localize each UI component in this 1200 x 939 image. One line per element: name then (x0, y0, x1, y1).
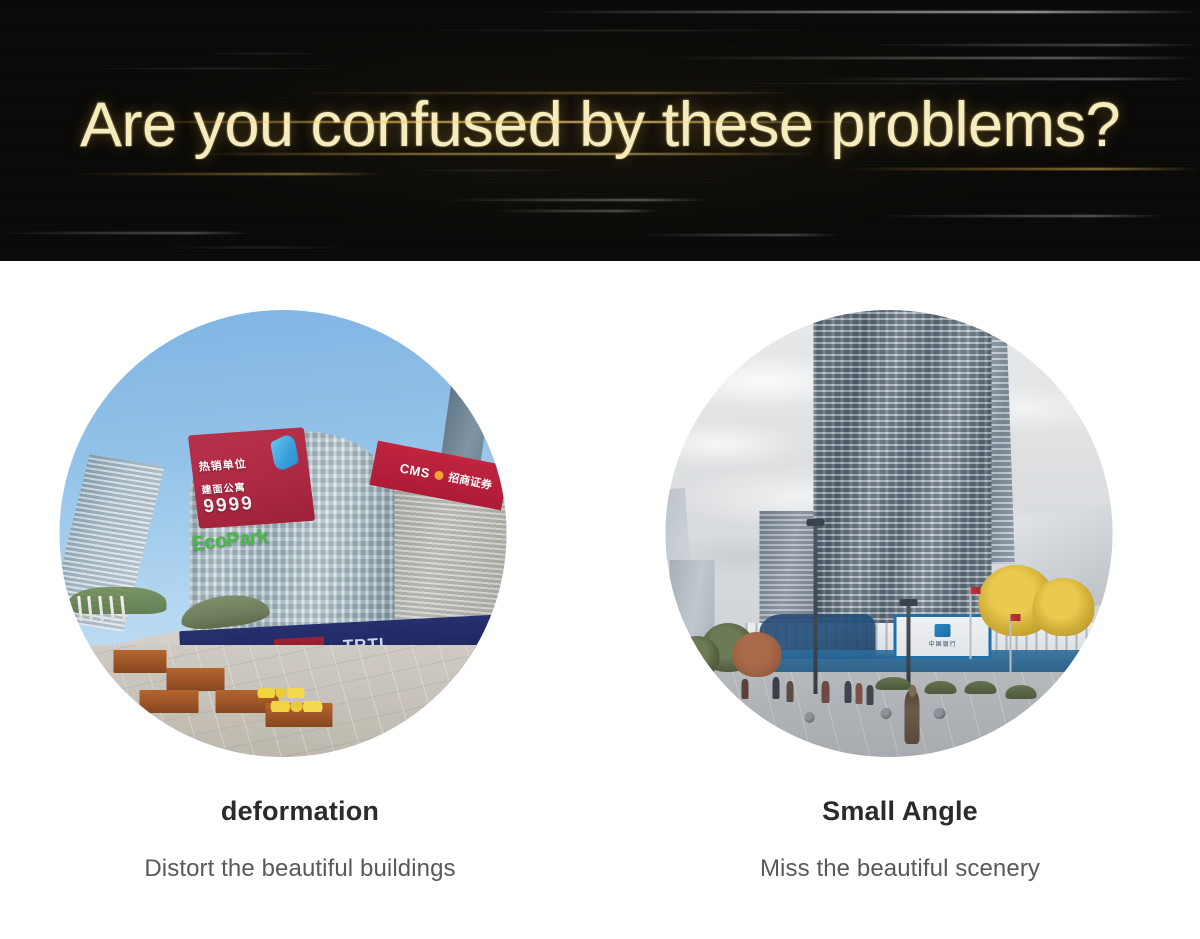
foreground-pedestrian (905, 690, 920, 744)
cms-sign-chinese: 招商证券 (447, 469, 493, 493)
street-lamp (907, 605, 911, 685)
title-gold-streak-lower (192, 153, 816, 155)
red-banner-number: 9999 (202, 493, 255, 518)
pedestrian (855, 683, 862, 704)
bank-logo-icon (935, 624, 951, 637)
card-small-angle[interactable]: 中国银行 (600, 261, 1200, 939)
pedestrian (867, 685, 874, 705)
pedestrian (844, 681, 851, 703)
slide-page: Are you confused by these problems? 热销单位… (0, 0, 1200, 939)
card-title-deformation: deformation (0, 796, 600, 827)
planter-box (167, 668, 225, 691)
ecopark-sign-label: EcoPark (190, 526, 269, 557)
flag-pole (1010, 614, 1012, 672)
flower-bed (256, 688, 305, 699)
narrow-angle-skyscraper-photo: 中国银行 (666, 310, 1113, 757)
dark-tree (674, 636, 719, 676)
cms-logo-dot-icon (434, 470, 445, 481)
cms-sign-latin: CMS (399, 460, 432, 481)
shrub (965, 681, 996, 694)
pedestrian (741, 679, 748, 700)
flower-bed (270, 701, 324, 712)
card-title-small-angle: Small Angle (600, 796, 1200, 827)
pedestrian (773, 677, 780, 699)
title-gold-streak-upper (120, 121, 864, 123)
problem-cards: 热销单位 建面公寓 9999 EcoPark CMS 招商证券 (0, 261, 1200, 939)
pedestrian (822, 681, 829, 703)
pedestrian (786, 681, 793, 702)
red-banner-line1: 热销单位 (198, 455, 248, 474)
shrub (1005, 685, 1036, 698)
planter-box (113, 650, 167, 673)
shrub (925, 681, 956, 694)
flag-pole (969, 587, 971, 659)
red-advertising-banner: 热销单位 建面公寓 9999 (188, 427, 316, 528)
yellow-autumn-tree (1032, 578, 1095, 636)
card-subtitle-deformation: Distort the beautiful buildings (0, 855, 600, 883)
planter-box (140, 690, 198, 713)
card-subtitle-small-angle: Miss the beautiful scenery (600, 855, 1200, 883)
card-deformation[interactable]: 热销单位 建面公寓 9999 EcoPark CMS 招商证券 (0, 261, 600, 939)
banner-kite-graphic (271, 432, 300, 474)
hero-banner: Are you confused by these problems? (0, 0, 1200, 261)
red-tree (733, 632, 782, 677)
stone-bollard (934, 708, 946, 720)
fisheye-distorted-mall-photo: 热销单位 建面公寓 9999 EcoPark CMS 招商证券 (60, 310, 507, 757)
street-ground (666, 659, 1113, 757)
content-area: 热销单位 建面公寓 9999 EcoPark CMS 招商证券 (0, 261, 1200, 939)
foreground-pedestrian-head (909, 685, 917, 697)
bank-signboard-label: 中国银行 (929, 639, 957, 648)
street-lamp (813, 525, 817, 695)
flag-row (64, 596, 153, 632)
page-title: Are you confused by these problems? (0, 88, 1200, 162)
